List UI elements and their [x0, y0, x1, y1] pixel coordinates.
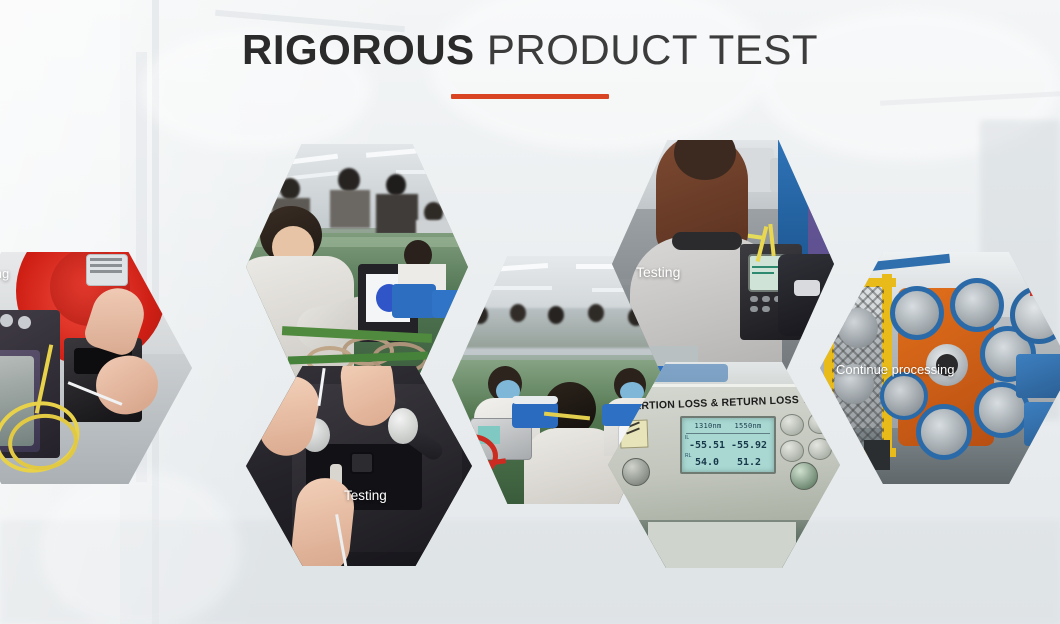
hexagon-otdr-operator-caption: Testing	[636, 264, 680, 280]
hexagon-hand-fixture-photo	[246, 366, 472, 566]
page-title-strong: RIGOROUS	[242, 26, 475, 73]
title-block: RIGOROUS PRODUCT TEST	[0, 28, 1060, 99]
hexagon-splicer-caption: Testing	[0, 266, 9, 281]
hexagon-cabling-machine-caption: Continue processing	[836, 362, 955, 377]
banner-stage: RIGOROUS PRODUCT TEST	[0, 0, 1060, 624]
display-il-value-2: -55.92	[731, 440, 767, 451]
display-il-value-1: -55.51	[689, 440, 725, 451]
hexagon-assembly-bench-photo	[246, 144, 468, 390]
hexagon-splicer[interactable]: Testing	[0, 252, 192, 484]
hexagon-cabling-machine[interactable]: Continue processing	[820, 252, 1060, 484]
display-wavelength-2: 1550nm	[734, 422, 761, 430]
display-il-row: -55.51 -55.92	[682, 440, 774, 451]
display-wavelength-1: 1310nm	[694, 422, 721, 430]
hexagon-hand-fixture-caption: Testing	[344, 488, 387, 503]
display-wavelength-row: 1310nm 1550nm	[682, 422, 774, 430]
display-rl-value-1: 54.0	[695, 457, 719, 468]
hexagon-hand-fixture[interactable]: Testing	[246, 366, 472, 566]
display-rl-row: 54.0 51.2	[682, 457, 774, 468]
test-station-display: 1310nm 1550nm IL -55.51 -55.92 RL 54.0 5…	[680, 416, 776, 474]
display-rl-value-2: 51.2	[737, 457, 761, 468]
page-title-light: PRODUCT TEST	[487, 26, 818, 73]
hexagon-assembly-bench[interactable]	[246, 144, 468, 390]
page-title: RIGOROUS PRODUCT TEST	[0, 28, 1060, 72]
title-underline-rule	[451, 94, 609, 99]
hexagon-splicer-photo	[0, 252, 192, 484]
